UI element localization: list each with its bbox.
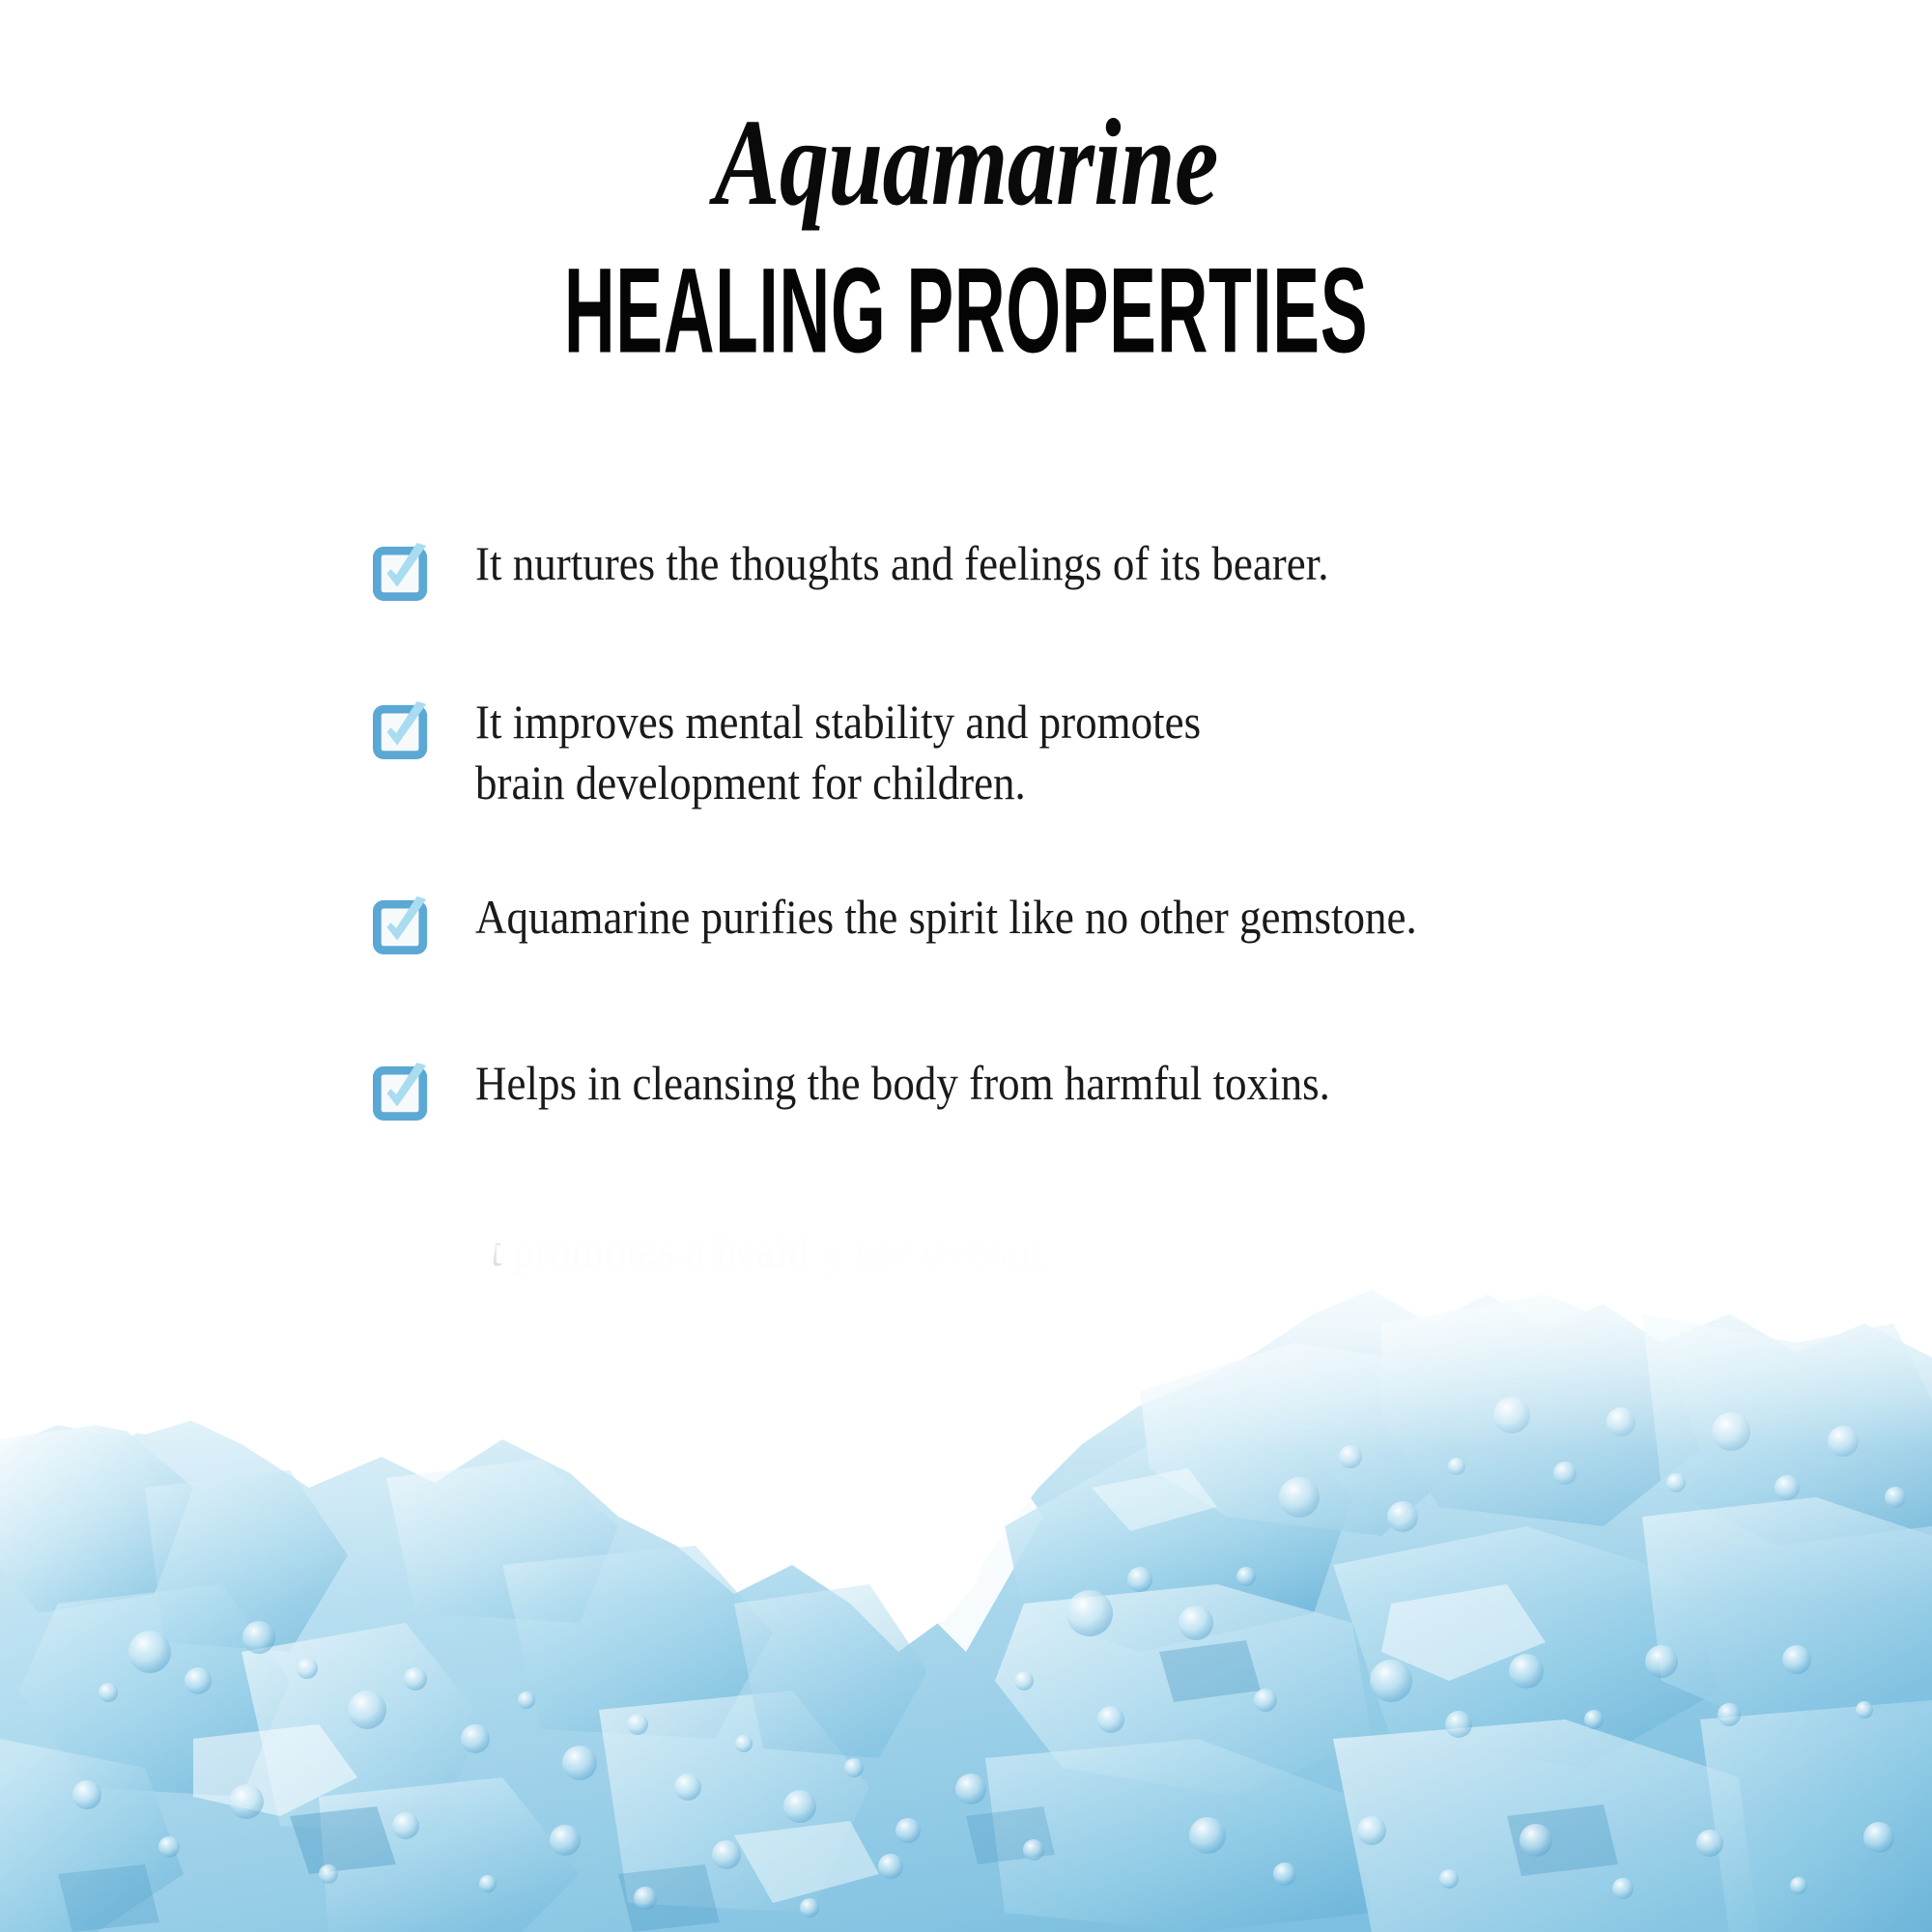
- checked-checkbox-icon: [373, 541, 433, 601]
- list-item-label: It improves mental stability and promote…: [475, 688, 1201, 813]
- list-item-label: Aquamarine purifies the spirit like no o…: [475, 883, 1417, 948]
- checkbox-container: [373, 1049, 435, 1119]
- ice-cubes-illustration: [0, 1198, 1932, 1932]
- checked-checkbox-icon: [373, 699, 433, 759]
- list-item: It improves mental stability and promote…: [373, 688, 1841, 813]
- checkbox-container: [373, 688, 435, 757]
- checkbox-container: [373, 529, 435, 599]
- list-item-label: Helps in cleansing the body from harmful…: [475, 1049, 1330, 1114]
- poster-canvas: Aquamarine HEALING PROPERTIES It nurture…: [0, 0, 1932, 1932]
- header: Aquamarine HEALING PROPERTIES: [0, 0, 1932, 363]
- list-item: Helps in cleansing the body from harmful…: [373, 1049, 1841, 1119]
- ice-cubes-photo: [0, 1198, 1932, 1932]
- checkbox-container: [373, 883, 435, 952]
- healing-properties-list: It nurtures the thoughts and feelings of…: [373, 529, 1841, 1285]
- list-item-label: It nurtures the thoughts and feelings of…: [475, 529, 1329, 594]
- page-title: Aquamarine: [193, 0, 1739, 224]
- checked-checkbox-icon: [373, 1061, 433, 1121]
- list-item: It nurtures the thoughts and feelings of…: [373, 529, 1841, 599]
- list-item: Aquamarine purifies the spirit like no o…: [373, 883, 1841, 952]
- checked-checkbox-icon: [373, 895, 433, 954]
- page-subtitle: HEALING PROPERTIES: [367, 224, 1565, 372]
